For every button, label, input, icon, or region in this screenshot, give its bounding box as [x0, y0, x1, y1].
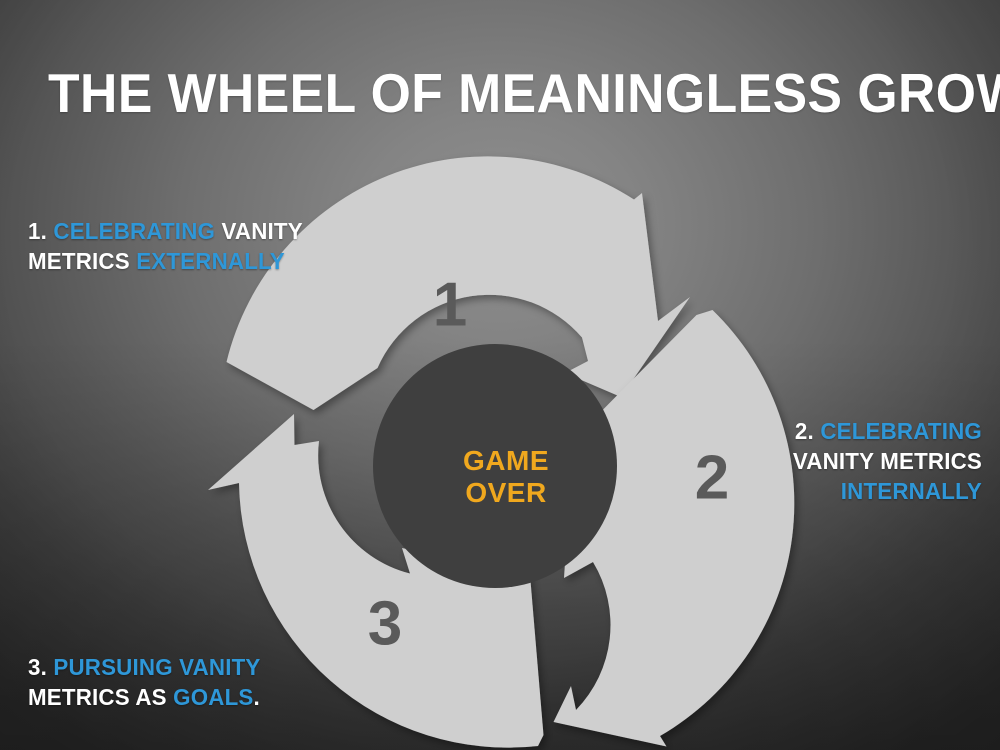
- callout-1-white-b: METRICS: [28, 248, 136, 274]
- callout-3: 3. PURSUING VANITYMETRICS AS GOALS.: [28, 652, 361, 712]
- callout-2-blue-a: CELEBRATING: [820, 418, 982, 444]
- wheel-number-3: 3: [368, 590, 402, 659]
- callout-2-number: 2.: [795, 418, 820, 444]
- callout-3-period: .: [253, 684, 259, 710]
- callout-1-blue-a: CELEBRATING: [53, 218, 215, 244]
- wheel-number-1: 1: [433, 271, 467, 340]
- callout-2: 2. CELEBRATINGVANITY METRICSINTERNALLY: [669, 416, 983, 506]
- wheel-diagram: 1 2 3 GAME OVER: [0, 0, 1000, 750]
- callout-3-number: 3.: [28, 654, 53, 680]
- wheel-svg: 1 2 3 GAME OVER: [0, 0, 1000, 750]
- callout-2-blue-b: INTERNALLY: [841, 478, 982, 504]
- callout-1-blue-b: EXTERNALLY: [136, 248, 285, 274]
- callout-3-blue-a: PURSUING VANITY: [53, 654, 260, 680]
- callout-3-blue-b: GOALS: [173, 684, 253, 710]
- slide-root: THE WHEEL OF MEANINGLESS GROWTH: [0, 0, 1000, 750]
- callout-1: 1. CELEBRATING VANITYMETRICS EXTERNALLY: [28, 216, 342, 276]
- hub-label-line-1: GAME: [463, 445, 549, 476]
- hub-label-line-2: OVER: [465, 477, 546, 508]
- callout-3-white-a: METRICS AS: [28, 684, 173, 710]
- callout-1-number: 1.: [28, 218, 53, 244]
- callout-1-white-a: VANITY: [215, 218, 303, 244]
- callout-2-white-a: VANITY METRICS: [793, 448, 982, 474]
